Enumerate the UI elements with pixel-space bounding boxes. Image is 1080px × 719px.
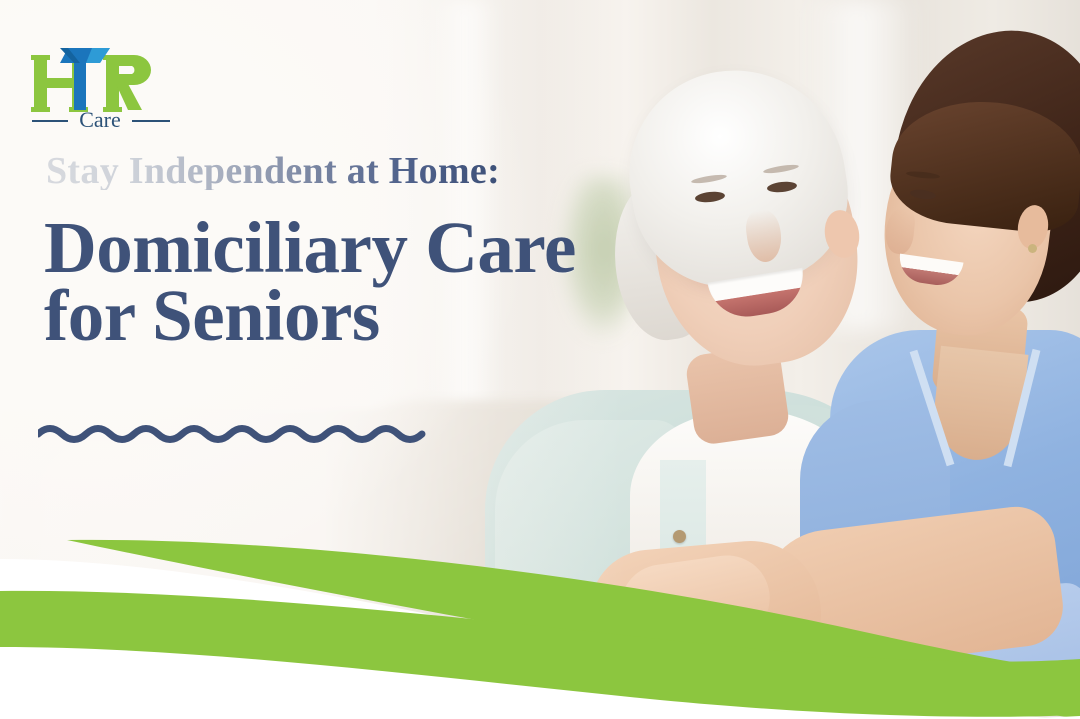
hero-banner: Care Stay Independent at Home: Domicilia…	[0, 0, 1080, 719]
zigzag-divider	[38, 420, 428, 446]
htr-care-logo[interactable]: Care	[30, 36, 190, 132]
page-title: Domiciliary Care for Seniors	[44, 214, 576, 350]
caregiver-earring	[1028, 244, 1037, 253]
logo-letter-r	[103, 55, 151, 112]
eyebrow-text: Stay Independent at Home:	[46, 152, 500, 190]
logo-tagline-text: Care	[79, 107, 121, 132]
senior-button-upper	[673, 530, 686, 543]
headline-line-2: for Seniors	[44, 282, 576, 350]
